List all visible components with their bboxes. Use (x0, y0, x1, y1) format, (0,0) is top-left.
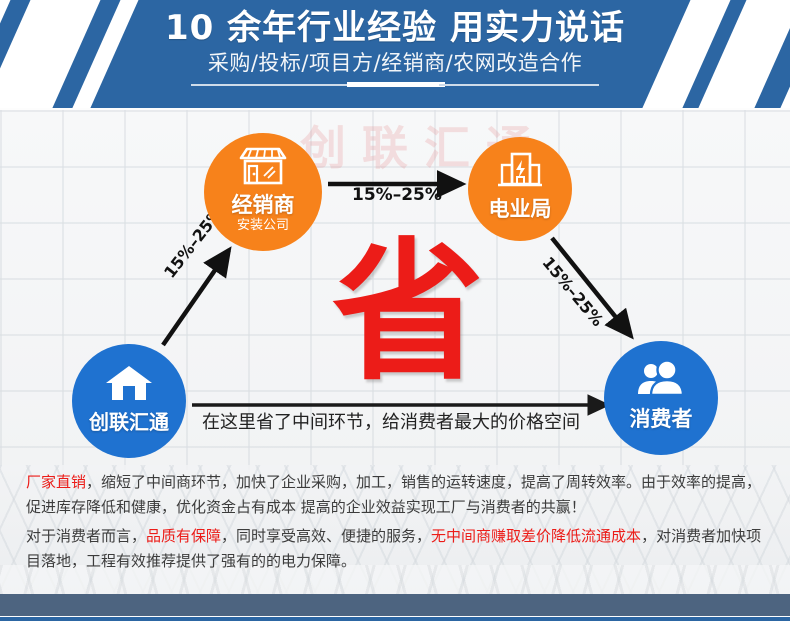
copy-text: 对于消费者而言， (26, 527, 146, 545)
header-banner: 10 余年行业经验 用实力说话 采购/投标/项目方/经销商/农网改造合作 (0, 0, 790, 108)
footer-accent-line (0, 617, 790, 621)
power-building-icon (468, 151, 572, 194)
copy-highlight: 品质有保障 (146, 527, 221, 545)
copy-text: ，同时享受高效、便捷的服务， (221, 527, 431, 545)
node-label: 消费者 (604, 407, 718, 431)
center-character: 省 (332, 238, 482, 388)
copy-highlight: 无中间商赚取差价降低流通成本 (431, 527, 641, 545)
shop-icon (204, 146, 322, 191)
copy-paragraph-1: 厂家直销，缩短了中间商环节，加快了企业采购，加工，销售的运转速度，提高了周转效率… (26, 470, 768, 520)
background-watermark: 创联汇通 (300, 112, 630, 178)
node-sublabel: 安装公司 (204, 218, 322, 234)
node-label: 电业局 (468, 197, 572, 221)
header-title: 10 余年行业经验 用实力说话 (0, 8, 790, 48)
diagram-node-dealer[interactable]: 经销商 安装公司 (204, 133, 322, 251)
promo-page: 创联汇通 10 余年行业经验 用实力说话 采购/投标/项目方/经销商/农网改造合… (0, 0, 790, 621)
diagram-node-consumer[interactable]: 消费者 (604, 341, 718, 455)
header-subtitle: 采购/投标/项目方/经销商/农网改造合作 (0, 50, 790, 77)
node-label: 经销商 (204, 193, 322, 217)
header-divider (191, 83, 599, 87)
diagram-node-company[interactable]: 创联汇通 (72, 344, 186, 458)
node-label: 创联汇通 (72, 411, 186, 434)
house-icon (72, 364, 186, 407)
copy-paragraph-2: 对于消费者而言，品质有保障，同时享受高效、便捷的服务，无中间商赚取差价降低流通成… (26, 524, 768, 574)
arrow-label-company-to-consumer: 在这里省了中间环节，给消费者最大的价格空间 (202, 408, 580, 434)
people-icon (604, 360, 718, 403)
arrow-label-dealer-to-bureau: 15%–25% (352, 185, 442, 205)
copy-text: ，缩短了中间商环节，加快了企业采购，加工，销售的运转速度，提高了周转效率。由于效… (26, 473, 761, 516)
footer-bar (0, 594, 790, 616)
copy-highlight: 厂家直销 (26, 473, 86, 491)
diagram-node-bureau[interactable]: 电业局 (468, 137, 572, 241)
